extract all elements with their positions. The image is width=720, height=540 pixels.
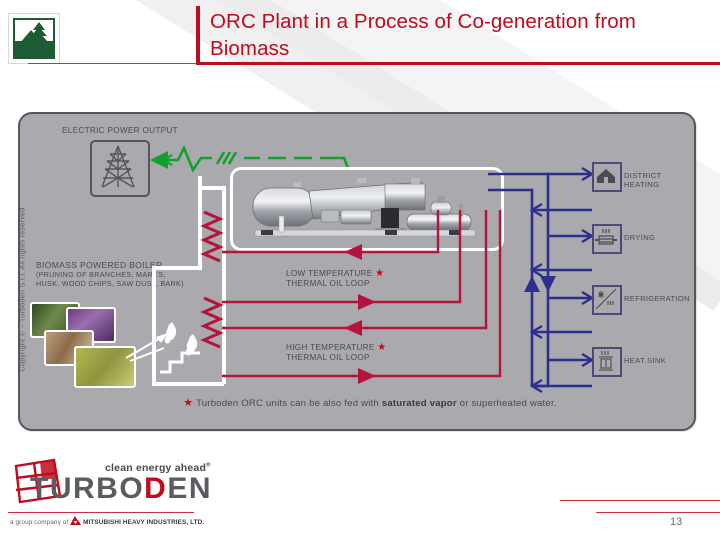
brand-accent: D [144, 472, 167, 505]
biomass-photo-group [30, 302, 134, 388]
high-temperature-loop-marker: ★ [377, 342, 386, 353]
page-title: ORC Plant in a Process of Co-generation … [210, 8, 710, 62]
footnote-bold: saturated vapor [382, 398, 457, 409]
user-label-district-heating: DISTRICT HEATING [624, 171, 694, 189]
low-temperature-loop-marker: ★ [375, 268, 384, 279]
header-rule-horizontal [200, 62, 720, 65]
low-temperature-loop-line2: THERMAL OIL LOOP [286, 279, 370, 288]
brand-wordmark: TURBODEN [30, 472, 212, 506]
user-label-refrigeration: REFRIGERATION [624, 294, 690, 303]
thermal-oil-loops [216, 210, 506, 390]
header-rule-left [28, 63, 196, 64]
house-icon [592, 162, 622, 192]
high-temperature-loop-line2: THERMAL OIL LOOP [286, 353, 370, 362]
footnote-prefix: Turboden ORC units can be also fed with [196, 398, 382, 409]
group-company-line: a group company of MITSUBISHI HEAVY INDU… [10, 516, 204, 526]
mitsubishi-mark-icon [70, 516, 81, 525]
diagram-panel: ELECTRIC POWER OUTPUT BIOMASS POWERED BO… [18, 112, 696, 431]
group-company-prefix: a group company of [10, 519, 68, 526]
footnote-marker: ★ [183, 397, 193, 409]
footer-rule-right [560, 500, 720, 501]
low-temperature-loop-label: LOW TEMPERATURE ★ THERMAL OIL LOOP [286, 269, 384, 289]
high-temperature-loop-line1: HIGH TEMPERATURE [286, 343, 375, 352]
user-label-heat-sink: HEAT SINK [624, 356, 666, 365]
user-label-drying: DRYING [624, 233, 655, 242]
slide-footer: clean energy ahead® TURBODEN a group com… [0, 450, 720, 540]
water-circuit-piping [486, 164, 606, 394]
page-number: 13 [670, 516, 682, 528]
heat-sink-icon [592, 347, 622, 377]
brand-part1: TURBO [30, 472, 144, 505]
forest-landscape-icon [8, 13, 60, 64]
high-temperature-loop-label: HIGH TEMPERATURE ★ THERMAL OIL LOOP [286, 343, 387, 363]
dryer-machine-icon [592, 224, 622, 254]
snowflake-chiller-icon [592, 285, 622, 315]
slide-header: ORC Plant in a Process of Co-generation … [0, 0, 720, 76]
electric-power-output-label: ELECTRIC POWER OUTPUT [62, 126, 178, 135]
page-number-rule [596, 512, 720, 513]
header-rule-vertical [196, 6, 200, 65]
low-temperature-loop-line1: LOW TEMPERATURE [286, 269, 373, 278]
registered-mark: ® [206, 463, 211, 469]
footer-rule [8, 512, 194, 513]
group-company-name: MITSUBISHI HEAVY INDUSTRIES, LTD. [83, 519, 204, 526]
copyright-notice: Copyright © – Turboden S.r.l. All rights… [18, 190, 27, 390]
footnote-suffix: or superheated water. [457, 398, 557, 409]
footnote: ★ Turboden ORC units can be also fed wit… [120, 396, 620, 409]
brand-part2: EN [167, 472, 212, 505]
